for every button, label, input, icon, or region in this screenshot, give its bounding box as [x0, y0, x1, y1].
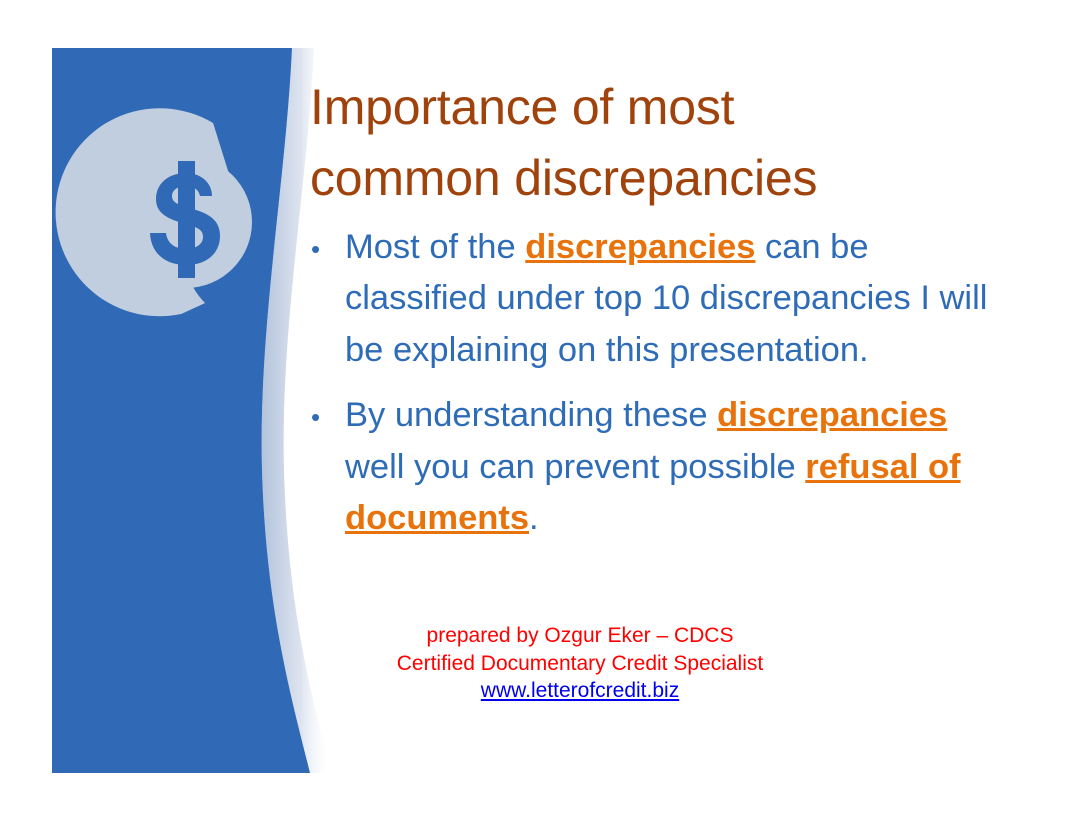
bullet-text-1: Most of the discrepancies can be classif…: [345, 222, 995, 376]
credit-qualification-line: Certified Documentary Credit Specialist: [300, 650, 860, 678]
logo-dollar-sign: [150, 161, 220, 278]
bullet-2-highlight-discrepancies: discrepancies: [717, 396, 947, 434]
slide-title: Importance of most common discrepancies: [310, 72, 1010, 214]
bullet-2-seg-2: well you can prevent possible: [345, 448, 805, 486]
slide-canvas: Importance of most common discrepancies …: [0, 0, 1068, 825]
bullet-marker-icon: •: [305, 390, 345, 430]
bullet-2-seg-0: By understanding these: [345, 396, 717, 434]
bullet-1-seg-0: Most of the: [345, 228, 525, 266]
logo-coin-circle: [120, 156, 252, 288]
bullet-list: • Most of the discrepancies can be class…: [305, 222, 995, 558]
credit-author-line: prepared by Ozgur Eker – CDCS: [300, 622, 860, 650]
bullet-text-2: By understanding these discrepancies wel…: [345, 390, 995, 544]
credit-website-link[interactable]: www.letterofcredit.biz: [300, 677, 860, 705]
title-line-2: common discrepancies: [310, 143, 1010, 214]
dollar-coin-logo: [56, 108, 252, 316]
bullet-2-seg-4: .: [529, 499, 539, 537]
blue-panel: [52, 48, 310, 773]
title-line-1: Importance of most: [310, 72, 1010, 143]
logo-wedge-fan: [60, 123, 233, 314]
bullet-marker-icon: •: [305, 222, 345, 262]
bullet-1-highlight-discrepancies: discrepancies: [525, 228, 755, 266]
logo-arc-wedge: [56, 108, 233, 316]
credit-block: prepared by Ozgur Eker – CDCS Certified …: [300, 622, 860, 705]
list-item: • By understanding these discrepancies w…: [305, 390, 995, 544]
list-item: • Most of the discrepancies can be class…: [305, 222, 995, 376]
